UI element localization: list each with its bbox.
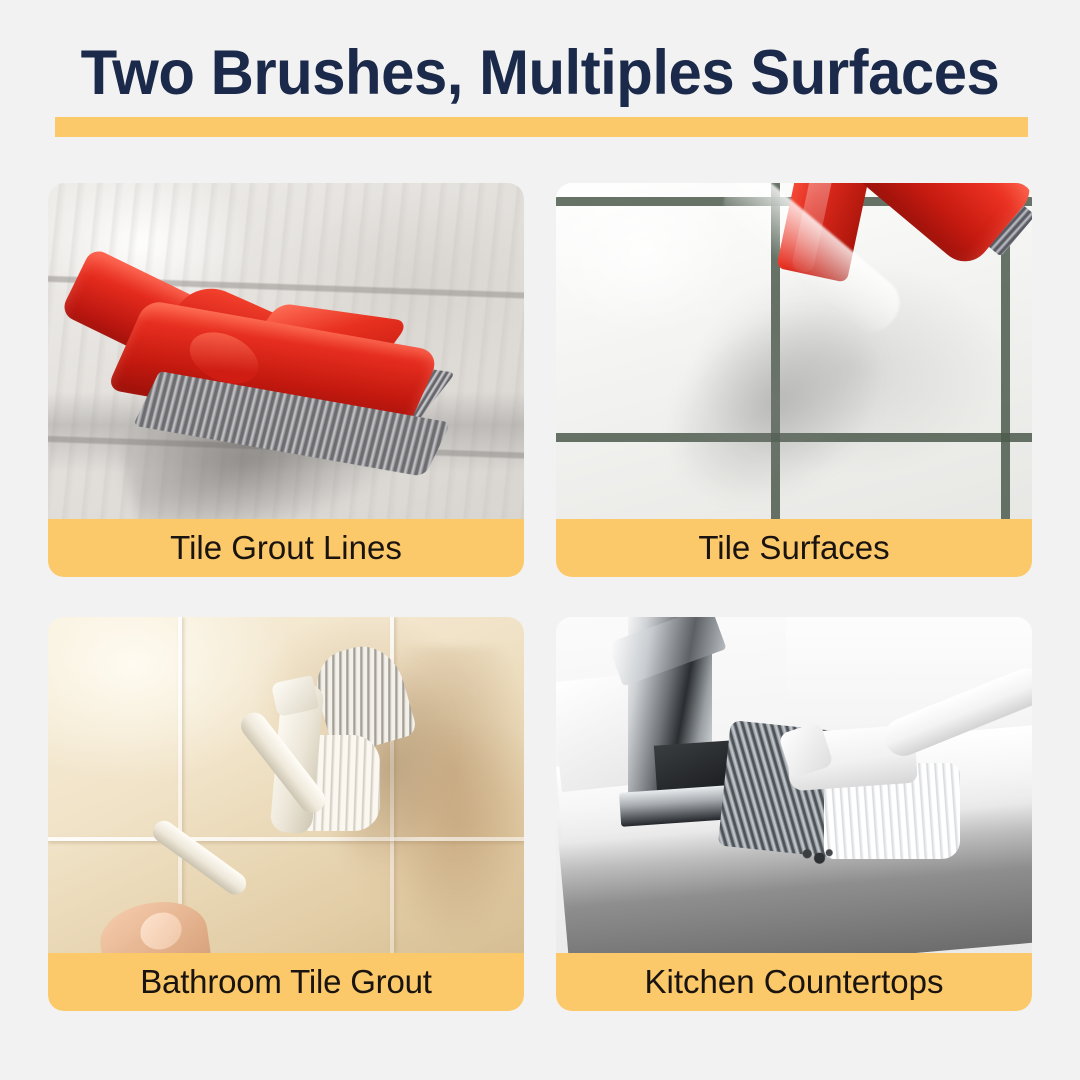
caption-tile-surfaces: Tile Surfaces [556,519,1032,577]
cream-brush-handle-lower [149,816,251,898]
caption-tile-grout-lines: Tile Grout Lines [48,519,524,577]
infographic-page: Two Brushes, Multiples Surfaces Tile Gro… [0,0,1080,1080]
feature-card-tile-grout-lines: Tile Grout Lines [48,183,524,577]
photo-bathroom-tile-grout [48,617,524,953]
title-highlight-bar [55,117,1028,137]
photo-kitchen-countertops [556,617,1032,953]
caption-kitchen-countertops: Kitchen Countertops [556,953,1032,1011]
feature-grid: Tile Grout Lines Tile Surfaces [48,183,1032,1011]
feature-card-bathroom-tile-grout: Bathroom Tile Grout [48,617,524,1011]
photo-tile-surfaces [556,183,1032,519]
feature-card-kitchen-countertops: Kitchen Countertops [556,617,1032,1011]
header: Two Brushes, Multiples Surfaces [0,36,1080,116]
feature-card-tile-surfaces: Tile Surfaces [556,183,1032,577]
debris-particles [794,845,838,867]
page-title: Two Brushes, Multiples Surfaces [27,36,1053,110]
tile-seam-horizontal [48,837,524,841]
photo-tile-grout-lines [48,183,524,519]
caption-bathroom-tile-grout: Bathroom Tile Grout [48,953,524,1011]
